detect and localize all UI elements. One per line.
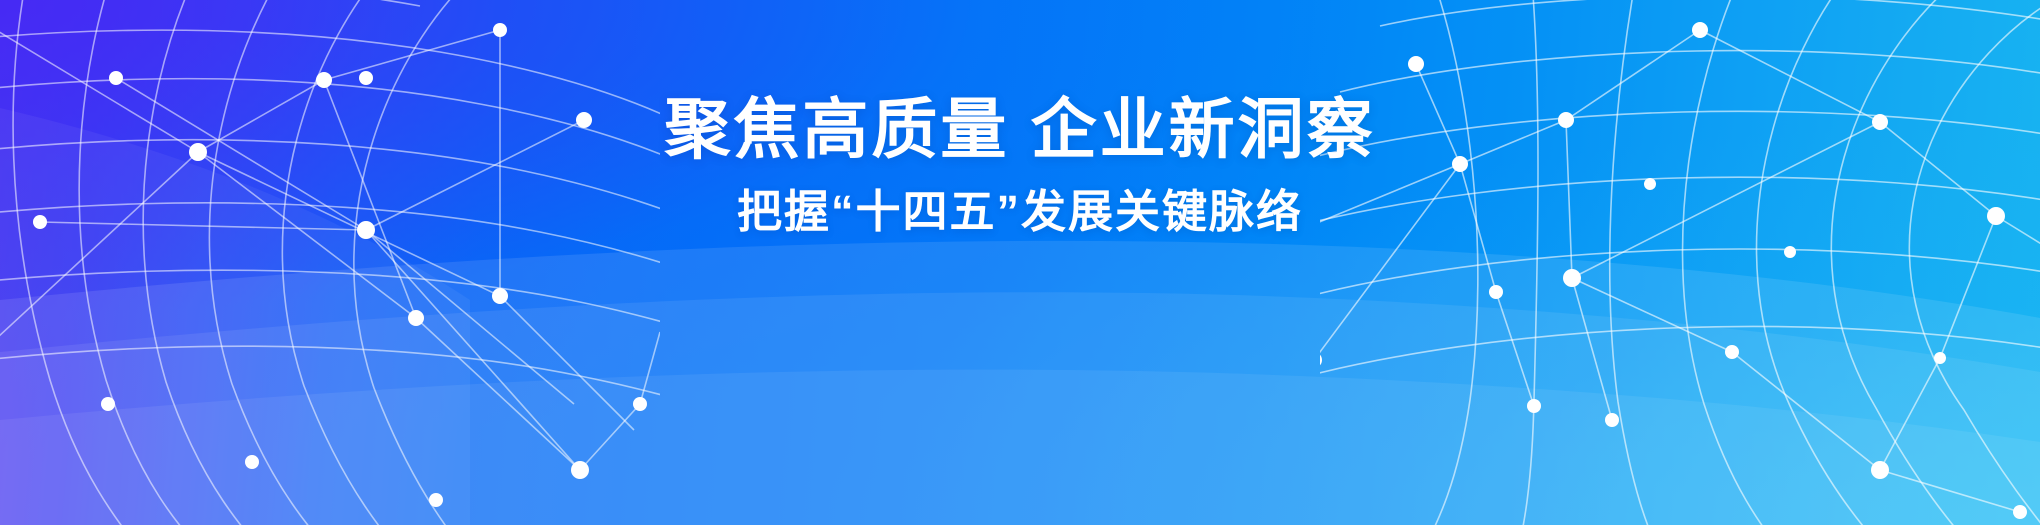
banner-text-block: 聚焦高质量 企业新洞察 把握“十四五”发展关键脉络	[0, 96, 2040, 234]
banner-subheadline: 把握“十四五”发展关键脉络	[0, 189, 2040, 234]
right-wireframe-globe-icon	[1320, 0, 2040, 525]
left-wireframe-globe-icon	[0, 0, 660, 525]
promo-banner: 聚焦高质量 企业新洞察 把握“十四五”发展关键脉络	[0, 0, 2040, 525]
banner-headline: 聚焦高质量 企业新洞察	[0, 96, 2040, 163]
